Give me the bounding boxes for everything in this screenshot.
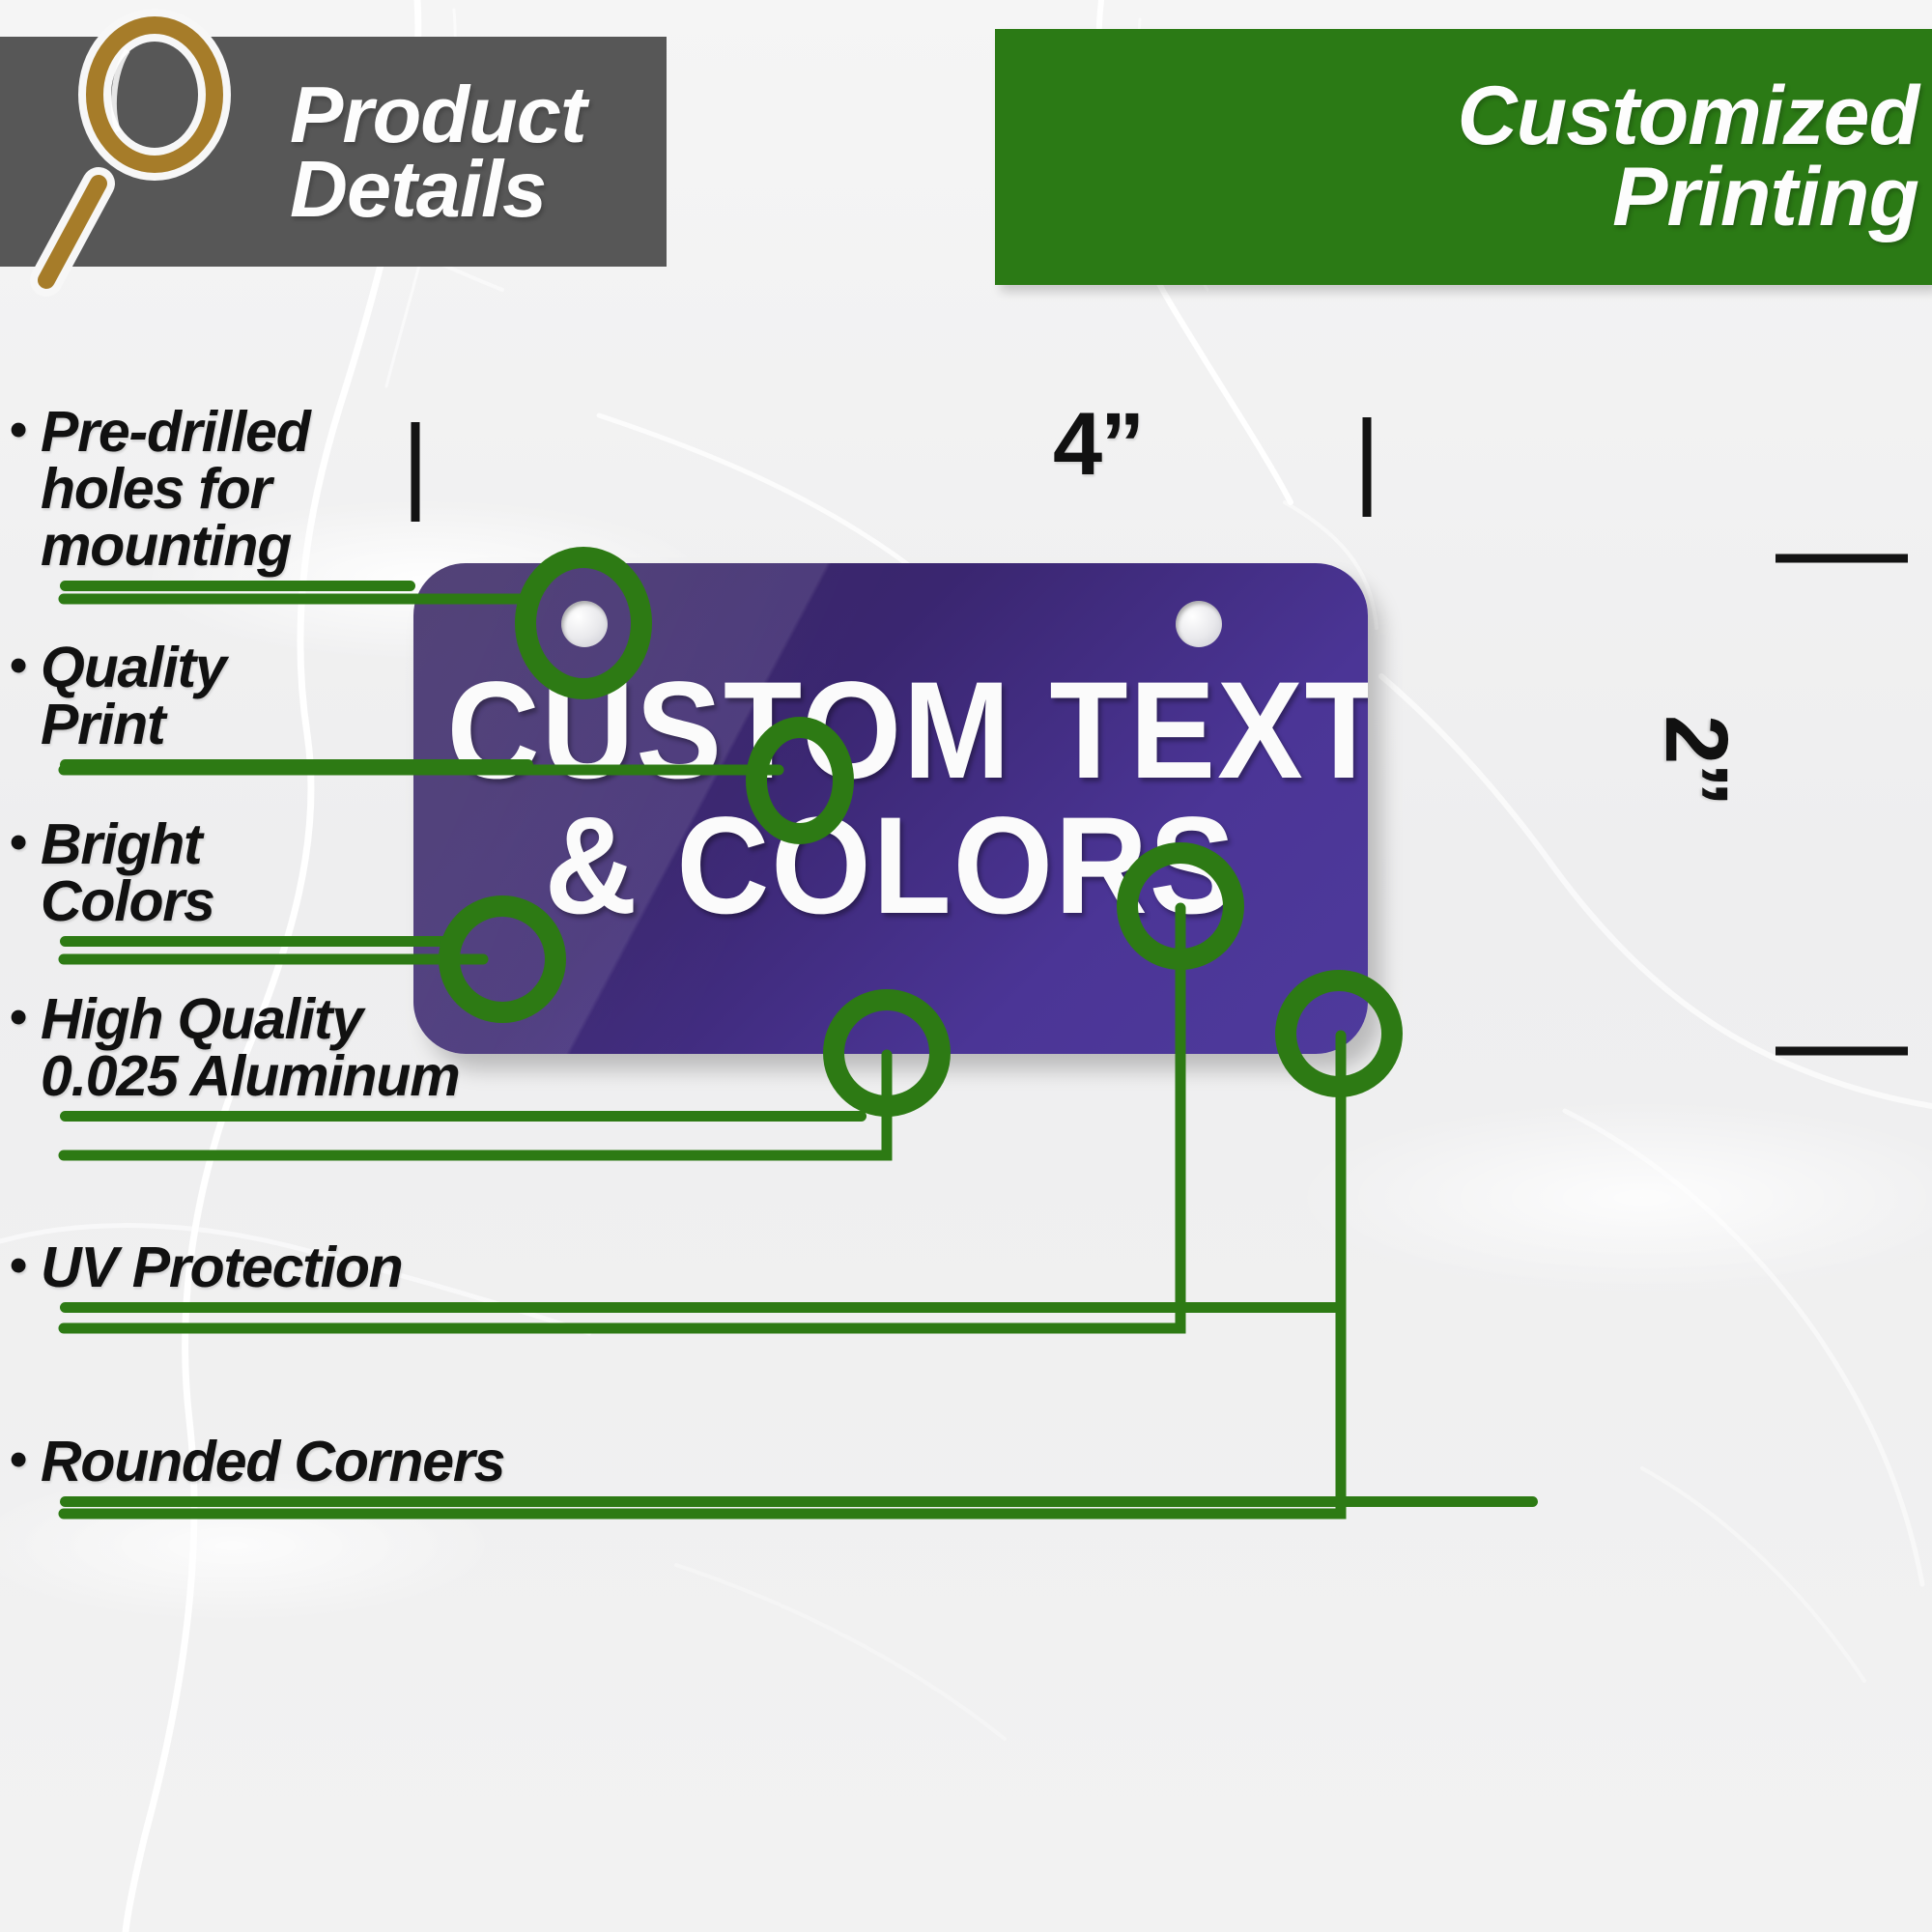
callout-line-high-quality-aluminum [64, 1055, 887, 1155]
callout-line-uv-protection [64, 908, 1180, 1328]
callout-ring-hole [526, 557, 641, 689]
callout-leader-lines [64, 599, 1341, 1514]
callout-line-rounded-corners [64, 1036, 1341, 1514]
callout-ring-print-quality [756, 727, 843, 834]
callout-rings [449, 557, 1392, 1106]
